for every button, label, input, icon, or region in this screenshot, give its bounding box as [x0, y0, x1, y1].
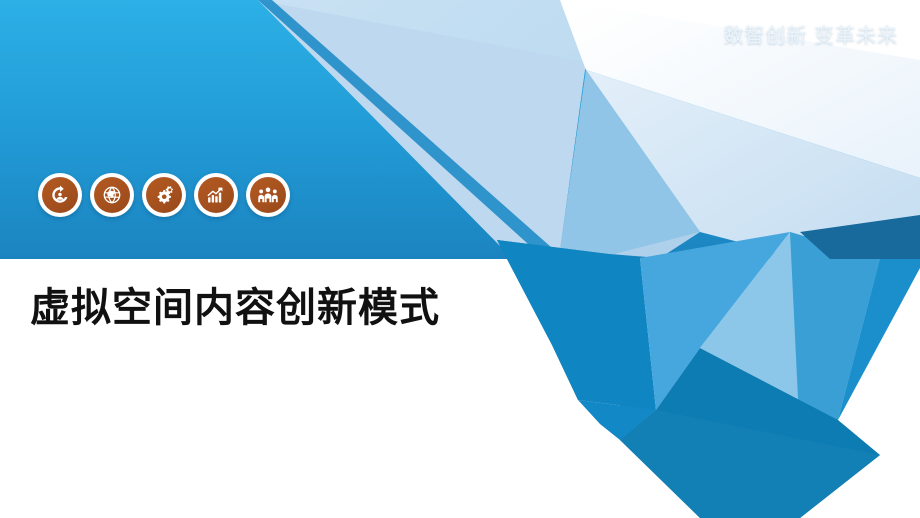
- presentation-title-slide: 数智创新 变革未来: [0, 0, 920, 518]
- innovation-refresh-icon: [42, 177, 78, 213]
- bar-chart-growth-icon: [198, 177, 234, 213]
- icon-strip: [38, 173, 290, 217]
- people-group-icon: [250, 177, 286, 213]
- icon-badge-globe[interactable]: [90, 173, 134, 217]
- slide-tagline: 数智创新 变革未来: [723, 26, 898, 46]
- icon-badge-bar-chart-growth[interactable]: [194, 173, 238, 217]
- gears-icon: [146, 177, 182, 213]
- globe-icon: [94, 177, 130, 213]
- background-artwork: [0, 0, 920, 518]
- icon-badge-people-group[interactable]: [246, 173, 290, 217]
- page-title: 虚拟空间内容创新模式: [30, 285, 440, 331]
- icon-badge-gears[interactable]: [142, 173, 186, 217]
- icon-badge-innovation-refresh[interactable]: [38, 173, 82, 217]
